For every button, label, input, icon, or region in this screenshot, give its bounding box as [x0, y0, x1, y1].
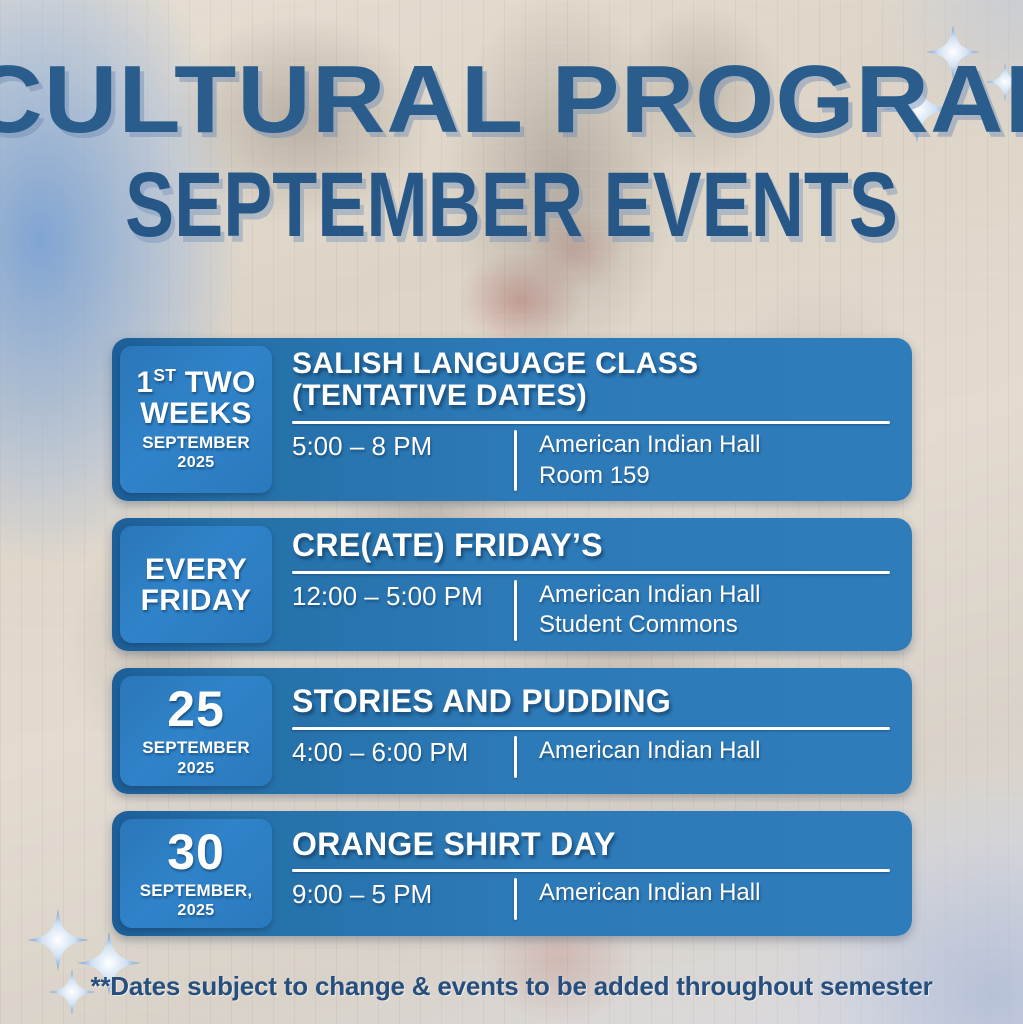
footer-disclaimer: **Dates subject to change & events to be… [0, 971, 1023, 1002]
vertical-divider [514, 430, 517, 491]
event-date-month: SEPTEMBER, [140, 881, 253, 901]
event-date-primary: EVERY [145, 554, 247, 585]
event-card[interactable]: 30 SEPTEMBER, 2025 ORANGE SHIRT DAY 9:00… [112, 811, 912, 937]
event-list: 1ST TWO WEEKS SEPTEMBER 2025 SALISH LANG… [112, 338, 912, 953]
event-time: 5:00 – 8 PM [292, 430, 492, 464]
event-location: American Indian Hall [539, 736, 890, 767]
event-date-primary: 25 [167, 684, 225, 734]
event-date-badge: 1ST TWO WEEKS SEPTEMBER 2025 [120, 346, 272, 493]
divider [292, 571, 890, 574]
event-date-primary-2: WEEKS [140, 398, 252, 429]
event-date-month: SEPTEMBER [142, 738, 250, 758]
event-card[interactable]: 1ST TWO WEEKS SEPTEMBER 2025 SALISH LANG… [112, 338, 912, 501]
event-location: American Indian Hall Student Commons [539, 580, 890, 641]
event-location-line1: American Indian Hall [539, 431, 760, 458]
event-title: SALISH LANGUAGE CLASS [292, 348, 890, 380]
vertical-divider [514, 580, 517, 641]
page-title: CULTURAL PROGRAM [0, 56, 1023, 144]
event-date-primary-2: FRIDAY [141, 585, 252, 616]
event-time: 4:00 – 6:00 PM [292, 736, 492, 770]
event-card-body: SALISH LANGUAGE CLASS (TENTATIVE DATES) … [272, 338, 912, 501]
event-poster: CULTURAL PROGRAM SEPTEMBER EVENTS 1ST TW… [0, 0, 1023, 1024]
event-details: 12:00 – 5:00 PM American Indian Hall Stu… [292, 580, 890, 641]
event-date-year: 2025 [177, 453, 214, 472]
event-card-body: STORIES AND PUDDING 4:00 – 6:00 PM Ameri… [272, 668, 912, 794]
event-card-body: CRE(ATE) FRIDAY’S 12:00 – 5:00 PM Americ… [272, 518, 912, 651]
divider [292, 869, 890, 872]
event-date-year: 2025 [177, 901, 214, 920]
event-details: 9:00 – 5 PM American Indian Hall [292, 878, 890, 920]
event-card[interactable]: 25 SEPTEMBER 2025 STORIES AND PUDDING 4:… [112, 668, 912, 794]
event-date-badge: 25 SEPTEMBER 2025 [120, 676, 272, 786]
page-subtitle: SEPTEMBER EVENTS [102, 162, 920, 249]
event-time: 12:00 – 5:00 PM [292, 580, 492, 614]
event-location-line1: American Indian Hall [539, 737, 760, 764]
event-location: American Indian Hall Room 159 [539, 430, 890, 491]
vertical-divider [514, 736, 517, 778]
divider [292, 421, 890, 424]
divider [292, 727, 890, 730]
event-date-badge: EVERY FRIDAY [120, 526, 272, 643]
event-title: ORANGE SHIRT DAY [292, 827, 890, 862]
event-location-line1: American Indian Hall [539, 879, 760, 906]
event-card[interactable]: EVERY FRIDAY CRE(ATE) FRIDAY’S 12:00 – 5… [112, 518, 912, 651]
event-location-line1: American Indian Hall [539, 581, 760, 608]
event-title: STORIES AND PUDDING [292, 684, 890, 719]
event-details: 5:00 – 8 PM American Indian Hall Room 15… [292, 430, 890, 491]
event-location: American Indian Hall [539, 878, 890, 909]
event-time: 9:00 – 5 PM [292, 878, 492, 912]
event-title: CRE(ATE) FRIDAY’S [292, 528, 890, 563]
poster-headings: CULTURAL PROGRAM SEPTEMBER EVENTS [0, 56, 1023, 250]
ordinal-suffix: ST [153, 365, 176, 385]
event-date-month: SEPTEMBER [142, 433, 250, 453]
event-date-year: 2025 [177, 759, 214, 778]
event-title-line2: (TENTATIVE DATES) [292, 380, 890, 412]
event-date-badge: 30 SEPTEMBER, 2025 [120, 819, 272, 929]
event-date-primary: 1ST TWO [136, 367, 255, 398]
event-details: 4:00 – 6:00 PM American Indian Hall [292, 736, 890, 778]
vertical-divider [514, 878, 517, 920]
event-date-primary: 30 [167, 827, 225, 877]
event-location-line2: Student Commons [539, 610, 890, 641]
event-card-body: ORANGE SHIRT DAY 9:00 – 5 PM American In… [272, 811, 912, 937]
event-location-line2: Room 159 [539, 461, 890, 492]
